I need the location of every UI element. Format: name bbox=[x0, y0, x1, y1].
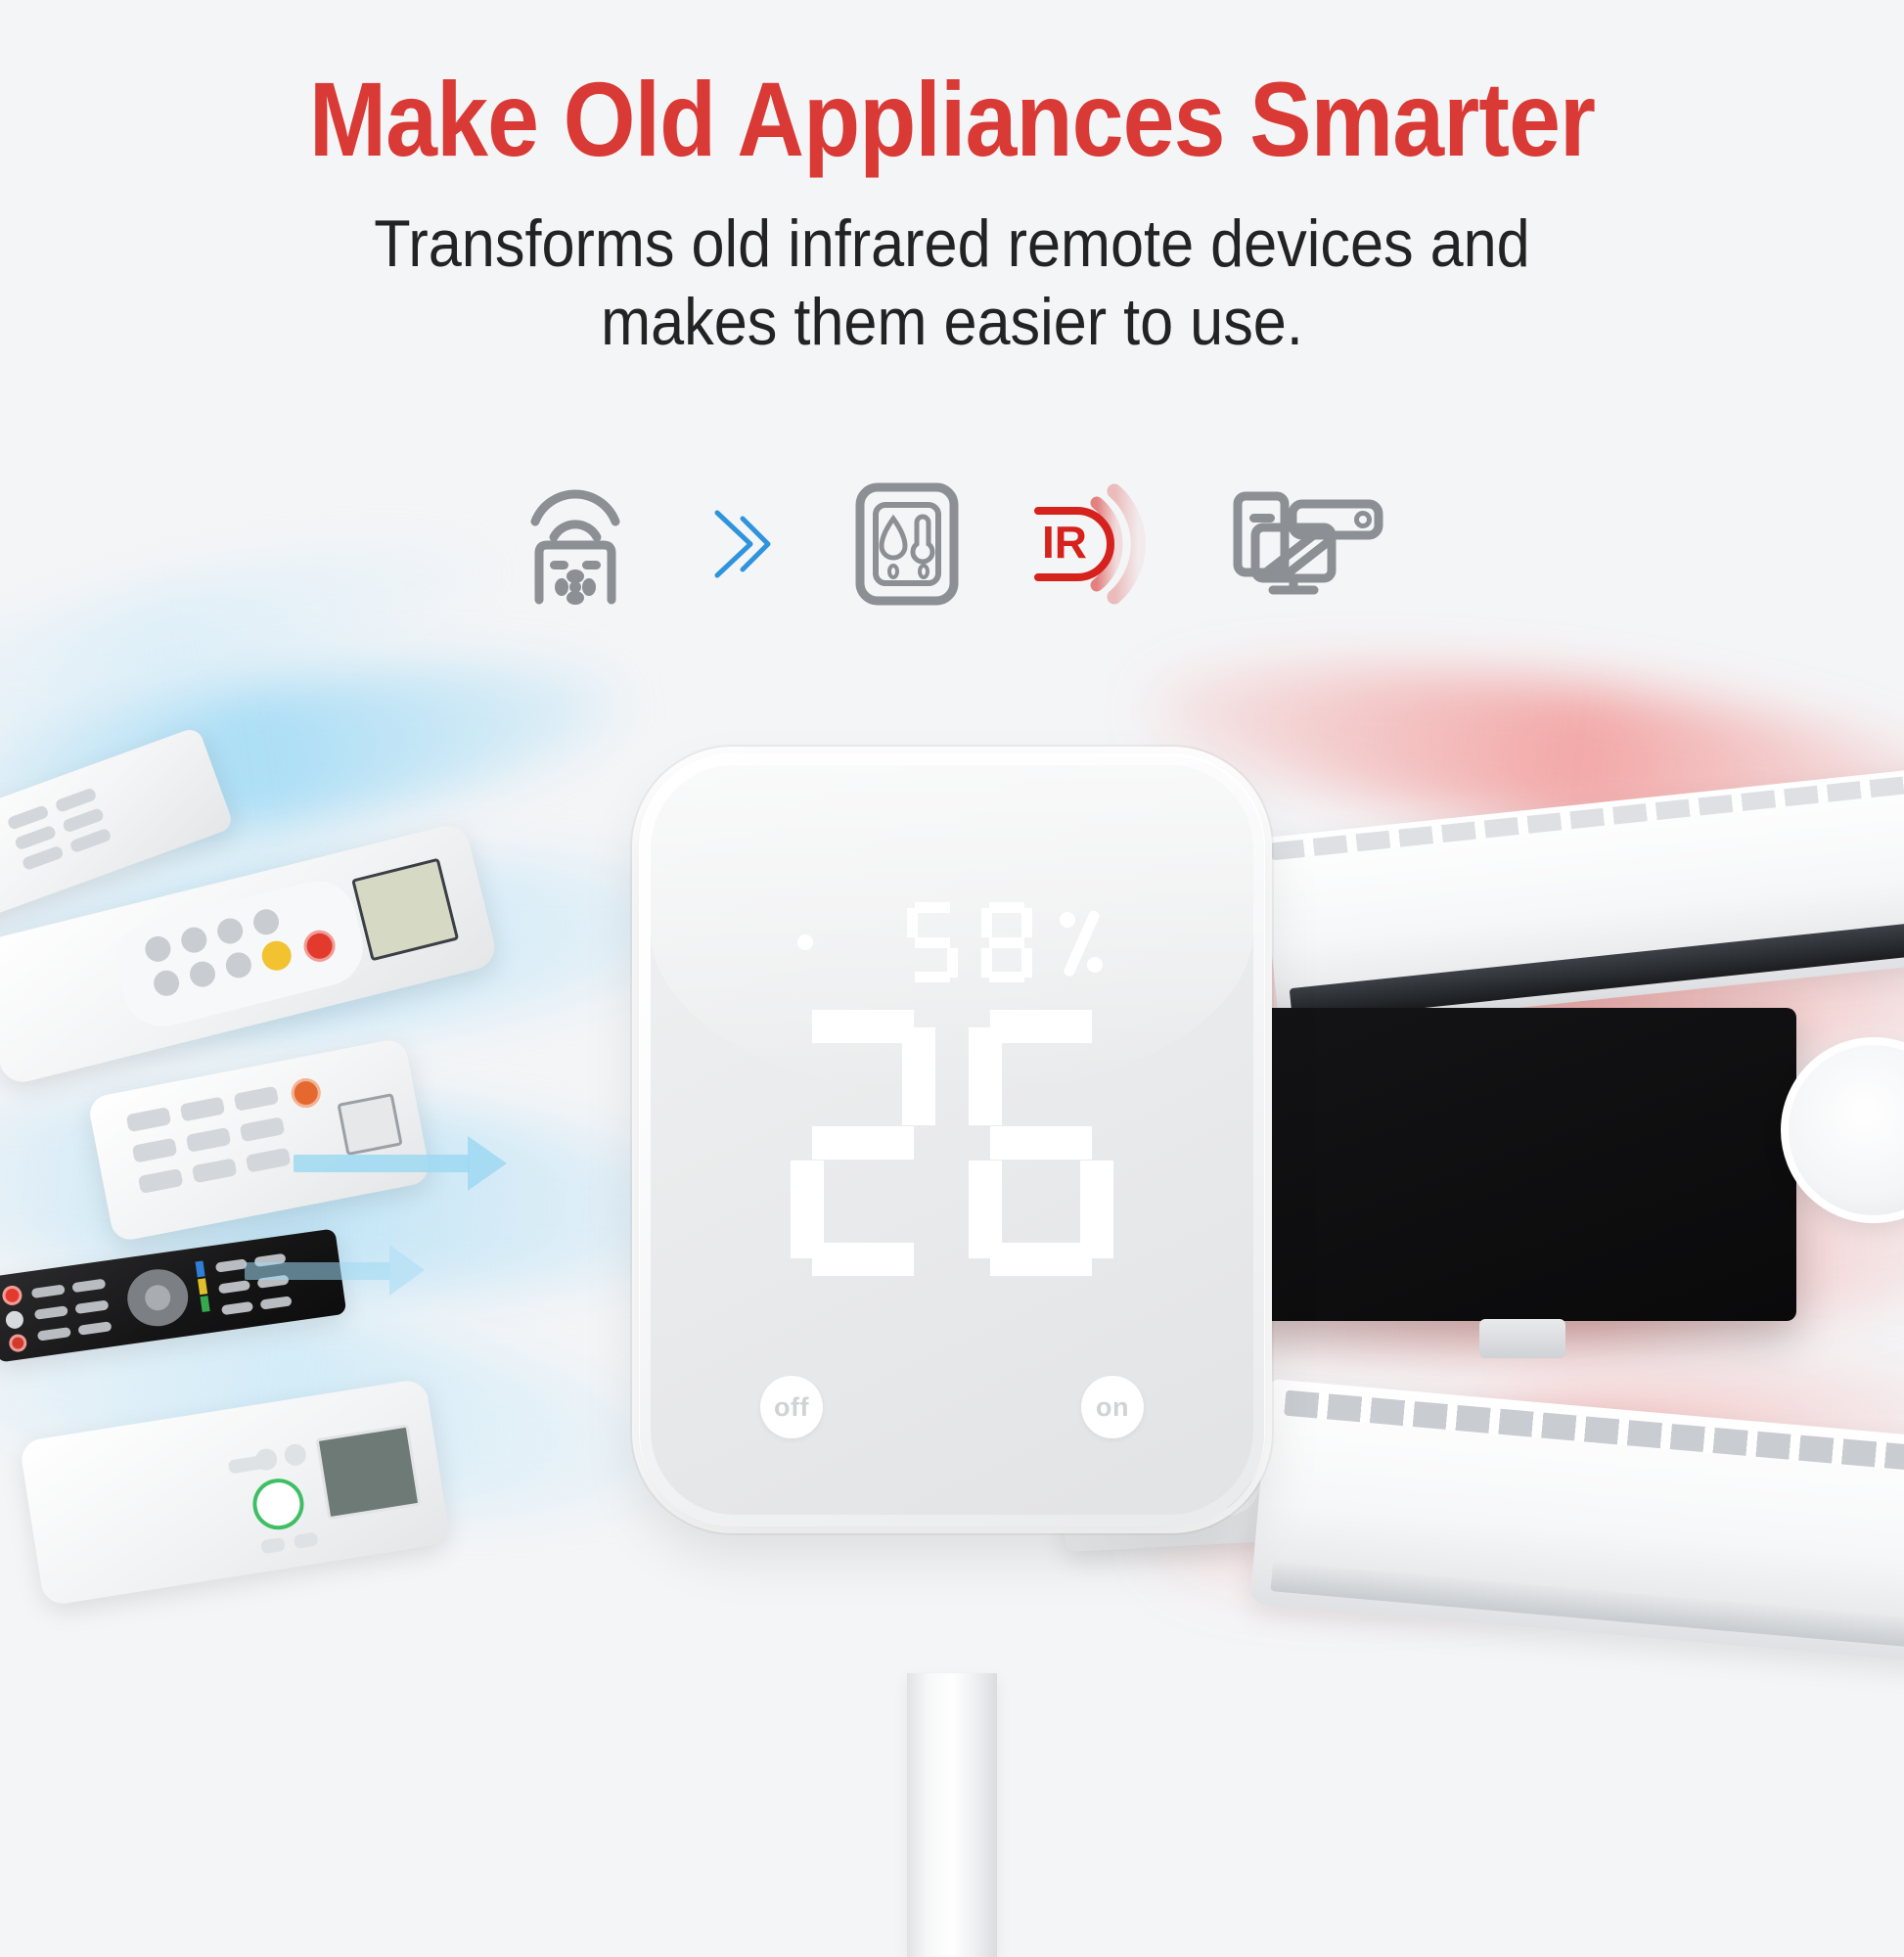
icon-cell-sensor bbox=[852, 479, 962, 609]
icon-cell-chevron bbox=[703, 497, 782, 591]
icon-cell-remote bbox=[518, 482, 633, 606]
feature-icon-strip: IR bbox=[0, 479, 1904, 609]
cool-flow-arrow-head bbox=[389, 1245, 425, 1296]
percent-icon bbox=[1056, 902, 1107, 982]
remote-lcd-screen bbox=[351, 858, 459, 962]
remote-signal-icon bbox=[518, 482, 633, 606]
power-off-button[interactable]: off bbox=[760, 1376, 823, 1438]
temperature-readout bbox=[651, 1010, 1253, 1276]
page-title: Make Old Appliances Smarter bbox=[114, 61, 1790, 179]
cool-flow-arrow bbox=[245, 1262, 391, 1280]
ir-broadcast-icon: IR bbox=[1032, 483, 1159, 605]
cool-flow-arrow-head bbox=[468, 1136, 507, 1191]
smart-hub-device[interactable]: off on bbox=[639, 753, 1265, 1526]
cool-flow-arrow bbox=[294, 1155, 470, 1172]
appliance-television bbox=[1248, 1008, 1796, 1321]
page-subtitle-line-1: Transforms old infrared remote devices a… bbox=[95, 205, 1808, 283]
ir-badge-label: IR bbox=[1042, 517, 1087, 568]
temperature-digit-1 bbox=[791, 1010, 935, 1276]
icon-cell-appliances bbox=[1230, 484, 1386, 604]
icon-cell-ir: IR bbox=[1032, 483, 1159, 605]
device-stand bbox=[907, 1673, 997, 1957]
temperature-digit-2 bbox=[969, 1010, 1113, 1276]
appliance-television-stand bbox=[1479, 1319, 1565, 1358]
device-body[interactable]: off on bbox=[639, 753, 1265, 1526]
header: Make Old Appliances Smarter Transforms o… bbox=[0, 0, 1904, 361]
appliances-icon bbox=[1230, 484, 1386, 604]
humidity-readout bbox=[651, 902, 1253, 982]
remote-power-button bbox=[249, 1475, 307, 1532]
status-dot-icon bbox=[797, 934, 813, 950]
page-subtitle: Transforms old infrared remote devices a… bbox=[95, 205, 1808, 361]
power-on-button[interactable]: on bbox=[1081, 1376, 1144, 1438]
humidity-digit-2 bbox=[981, 902, 1032, 982]
device-display-panel: off on bbox=[651, 765, 1253, 1515]
temperature-humidity-sensor-icon bbox=[852, 479, 962, 609]
double-chevron-right-icon bbox=[703, 497, 782, 591]
device-button-row: off on bbox=[651, 1376, 1253, 1438]
page-subtitle-line-2: makes them easier to use. bbox=[95, 283, 1808, 361]
humidity-digit-1 bbox=[907, 902, 958, 982]
